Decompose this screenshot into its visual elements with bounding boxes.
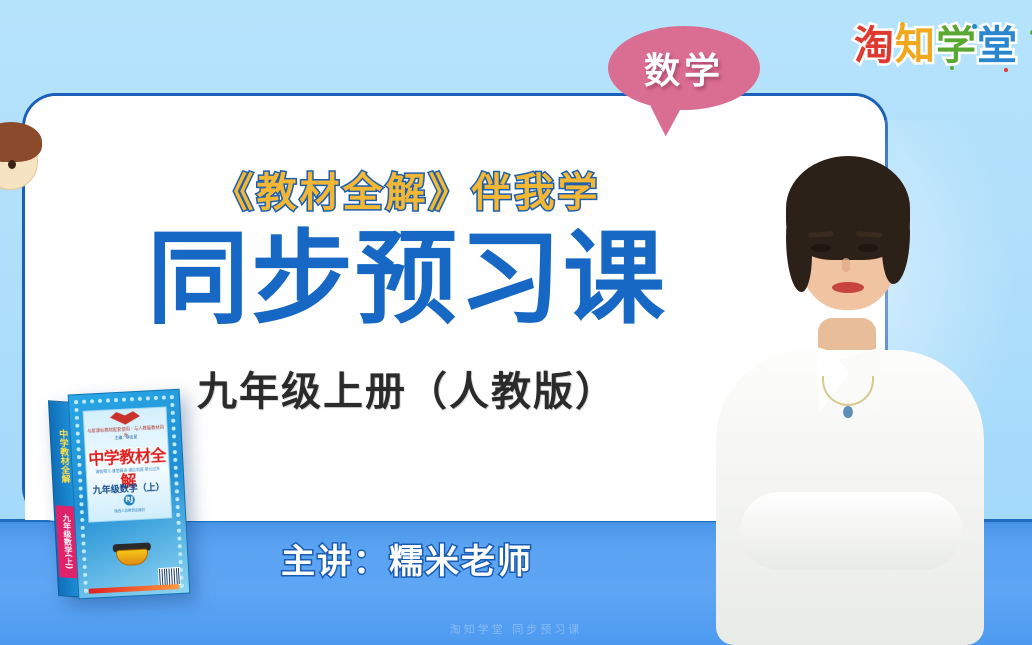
book-pot-illustration bbox=[112, 540, 151, 568]
headline-block: 《教材全解》伴我学 同步预习课 九年级上册（人教版） bbox=[22, 120, 792, 417]
brand-char-1: 知 bbox=[895, 26, 934, 66]
teacher-eye-left bbox=[811, 244, 831, 252]
confetti-dot-icon bbox=[900, 22, 905, 27]
brand-logo[interactable]: 淘 知 学 堂 bbox=[854, 26, 1016, 66]
brand-char-0: 淘 bbox=[854, 26, 893, 66]
book-front-cover: 与新课标教材配套使用 · 与人教版教材同步 主编：薛金星 中学教材全解 课前预习… bbox=[68, 389, 191, 600]
book-version-badge: RJ bbox=[124, 494, 136, 506]
brand-char-2: 学 bbox=[936, 26, 975, 66]
page-title: 同步预习课 bbox=[22, 226, 792, 333]
textbook-cover-image: 中学教材全解 九年级数学(上) 与新课标教材配套使用 · 与人教版教材同步 主编… bbox=[48, 389, 192, 601]
confetti-dot-icon bbox=[950, 66, 954, 70]
teacher-folded-arms bbox=[740, 492, 962, 570]
subject-badge-bubble: 数学 bbox=[608, 26, 760, 110]
mascot-eye-right bbox=[8, 160, 16, 169]
book-crest-icon bbox=[110, 411, 141, 426]
brand-char-3: 堂 bbox=[977, 26, 1016, 66]
book-cover-panel: 与新课标教材配套使用 · 与人教版教材同步 主编：薛金星 中学教材全解 课前预习… bbox=[83, 406, 173, 522]
teacher-pendant bbox=[843, 406, 853, 418]
subject-badge-label: 数学 bbox=[644, 42, 724, 94]
teacher-hair-top bbox=[786, 156, 910, 260]
confetti-dot-icon bbox=[1004, 68, 1008, 72]
kicker-text: 《教材全解》伴我学 bbox=[22, 160, 792, 218]
teacher-eye-right bbox=[858, 244, 878, 252]
mascot-hair bbox=[0, 122, 42, 162]
student-mascot-icon bbox=[0, 120, 44, 192]
teacher-portrait bbox=[700, 140, 1000, 645]
book-cover-footer: 陕西人民教育出版社 bbox=[91, 507, 169, 516]
pot-bowl bbox=[116, 549, 149, 567]
teacher-nose bbox=[842, 258, 850, 272]
teacher-mouth bbox=[832, 282, 864, 293]
lesson-cover-stage: 淘 知 学 堂 数学 《教材全解》伴我学 同步预习课 九年级上册（人教版） 中学… bbox=[0, 0, 1032, 645]
watermark-text: 淘知学堂 同步预习课 bbox=[0, 621, 1032, 637]
confetti-dot-icon bbox=[972, 24, 977, 29]
